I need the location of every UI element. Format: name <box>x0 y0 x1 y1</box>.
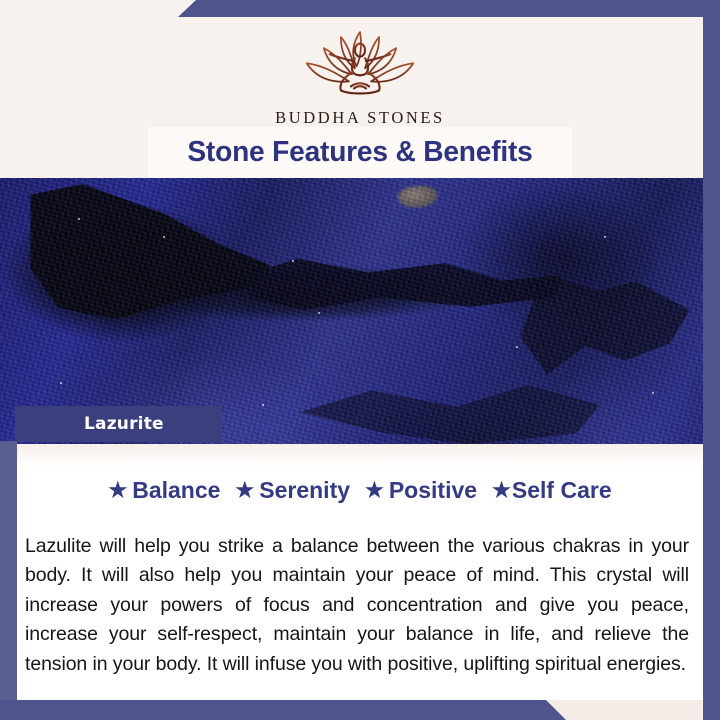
keyword-item-balance: ★ Balance <box>108 477 220 504</box>
keyword-label: Positive <box>389 477 477 504</box>
keyword-list: ★ Balance ★ Serenity ★ Positive ★ Self C… <box>0 477 720 504</box>
star-icon: ★ <box>235 480 254 501</box>
keyword-label: Balance <box>132 477 220 504</box>
stone-speck <box>604 236 606 238</box>
page-title: Stone Features & Benefits <box>148 127 572 178</box>
stone-speck <box>262 404 264 406</box>
stone-speck <box>60 382 62 384</box>
brand-name: BUDDHA STONES <box>0 108 720 128</box>
stone-speck <box>163 236 165 238</box>
right-accent-band <box>703 0 720 720</box>
stone-grain-texture <box>0 178 720 444</box>
bottom-right-accent <box>546 700 720 720</box>
star-icon: ★ <box>365 480 384 501</box>
page-title-text: Stone Features & Benefits <box>187 136 532 169</box>
star-icon: ★ <box>108 480 127 501</box>
stone-speck <box>652 392 654 394</box>
content-section: ★ Balance ★ Serenity ★ Positive ★ Self C… <box>0 444 720 700</box>
star-icon: ★ <box>492 480 511 501</box>
stone-speck <box>318 312 320 314</box>
keyword-label: Self Care <box>512 477 612 504</box>
keyword-item-serenity: ★ Serenity <box>235 477 350 504</box>
stone-speck <box>78 218 80 220</box>
stone-photo <box>0 178 720 444</box>
brand-logo: BUDDHA STONES <box>0 26 720 128</box>
stone-speck <box>292 260 294 262</box>
keyword-item-self-care: ★ Self Care <box>492 477 612 504</box>
stone-speck <box>516 346 518 348</box>
stone-name-text: Lazurite <box>15 414 164 434</box>
stone-description: Lazulite will help you strike a balance … <box>25 532 689 680</box>
keyword-label: Serenity <box>259 477 350 504</box>
left-accent-band <box>0 441 17 706</box>
lotus-meditating-figure-icon <box>284 26 436 104</box>
infographic-page: BUDDHA STONES Stone Features & Benefits … <box>0 0 720 720</box>
content-top-fade <box>0 444 720 466</box>
keyword-item-positive: ★ Positive <box>365 477 477 504</box>
stone-name-badge: Lazurite <box>15 406 222 442</box>
